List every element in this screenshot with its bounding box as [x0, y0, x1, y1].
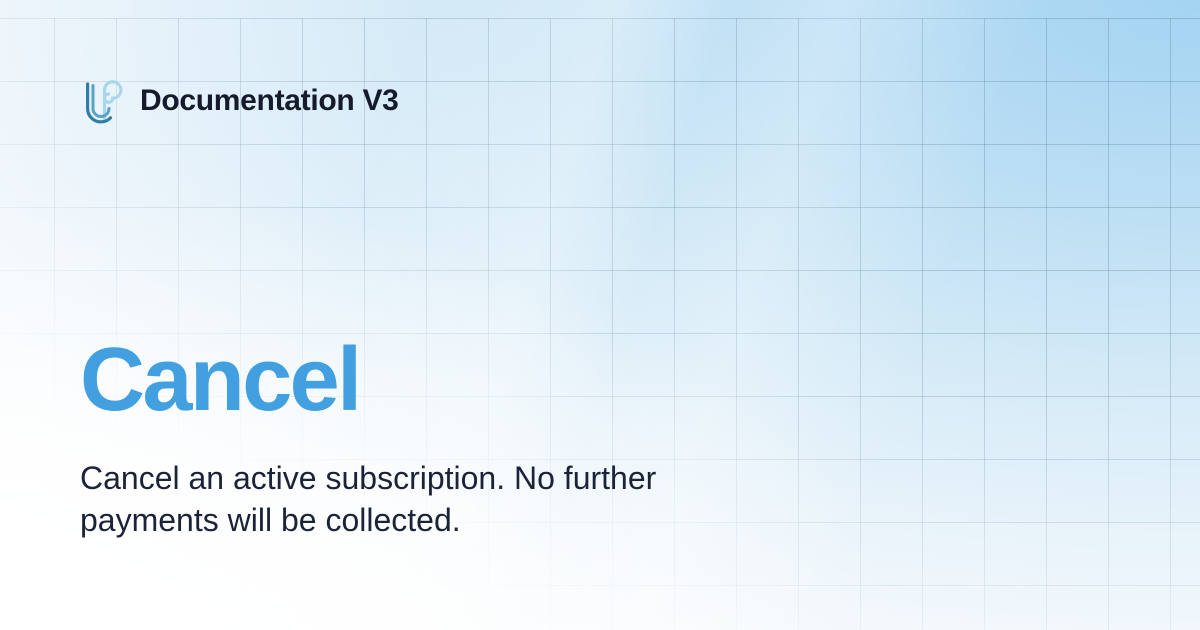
hero-block: Cancel Cancel an active subscription. No… [80, 335, 770, 541]
page-title: Cancel [80, 335, 770, 425]
og-card: Documentation V3 Cancel Cancel an active… [0, 0, 1200, 630]
brand-title: Documentation V3 [140, 86, 399, 116]
brand-header: Documentation V3 [80, 78, 399, 124]
up-monogram-logo-icon [80, 78, 124, 124]
page-subtitle: Cancel an active subscription. No furthe… [80, 457, 770, 541]
card-content: Documentation V3 Cancel Cancel an active… [0, 0, 1200, 630]
